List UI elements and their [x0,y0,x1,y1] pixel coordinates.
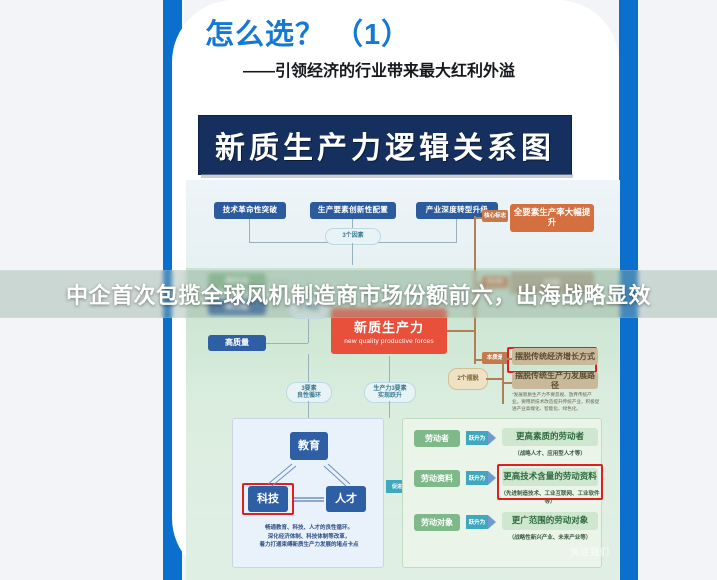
education-panel-note: 畅通教育、科技、人才的良性循环。 深化经济体制、科技体制等改革， 着力打通束缚新… [238,524,380,550]
page-root: 怎么选？ （1） ——引领经济的行业带来最大红利外溢 新质生产力逻辑关系图 技术… [0,0,717,580]
connector-cycle-down [308,401,309,418]
upgrade-arrow-1: 跃升为 [466,431,488,445]
element-to-3: 更广范围的劳动对象 [502,512,598,530]
triangle-node-talent: 人才 [326,486,366,512]
highlight-technology [242,483,294,515]
overlay-headline-text: 中企首次包揽全球风机制造商市场份额前六，出海战略显效 [66,278,651,310]
element-to-1: 更高素质的劳动者 [502,428,598,446]
triangle-node-education: 教育 [290,432,328,460]
factor-box-2: 生产要素创新性配置 [310,202,396,219]
node-2-escape: 2个摆脱 [448,368,488,390]
element-detail-3: （战略性新兴产业、未来产业等） [502,533,598,541]
tag-stub-1 [474,217,482,219]
page-subtitle: ——引领经济的行业带来最大红利外溢 [243,57,605,81]
upgrade-arrow-3: 跃升为 [466,515,488,529]
element-from-1: 劳动者 [414,430,460,447]
escape-stub [486,378,502,380]
diagram-banner: 新质生产力逻辑关系图 [198,115,572,175]
right-tag-1: 核心标志 [482,210,508,222]
core-node-en: new quality productive forces [344,338,434,345]
connector-feat-3 [266,343,308,344]
right-box-1: 全要素生产率大幅提升 [510,204,594,232]
node-3-factors: 3个因素 [325,228,381,245]
page-title: 怎么选？ （1） [205,18,605,52]
element-from-3: 劳动对象 [414,514,460,531]
upgrade-arrow-2: 跃升为 [466,471,488,485]
escape-note: "发展新质生产力不要忽视、放弃传统产业。要用新技术改造提升传统产业，积极促进产业… [512,392,600,413]
diagram-banner-label: 新质生产力逻辑关系图 [215,123,555,167]
banner-shadow [201,174,573,178]
connector-f1 [249,219,250,242]
connector-leap-down [389,401,390,418]
node-leap: 生产力3要素 实现跃升 [364,382,416,403]
highlight-labor-materials [497,464,603,500]
escape-stub-1 [504,358,512,360]
escape-box-1: 摆脱传统经济增长方式 [512,348,598,365]
core-node-cn: 新质生产力 [354,317,424,336]
element-detail-1: （战略人才、应用型人才等） [502,449,598,457]
overlay-headline-band: 中企首次包揽全球风机制造商市场份额前六，出海战略显效 [0,270,717,318]
node-cycle: 3要素 良性循环 [286,382,332,403]
connector-leap-up [389,356,390,382]
logic-diagram: 技术革命性突破 生产要素创新性配置 产业深度转型升级 3个因素 高科技 高效能 … [186,180,620,580]
core-to-spine [447,330,475,332]
connector-core-in [352,243,353,265]
slide-headline-group: 怎么选？ （1） ——引领经济的行业带来最大红利外溢 [205,18,605,81]
element-from-2: 劳动资料 [414,470,460,487]
factor-box-1: 技术革命性突破 [214,202,286,219]
connector-f3 [456,219,457,242]
connector-cycle-up [308,354,309,382]
watermark: 关注我们 [570,545,610,558]
tag-stub-3 [474,359,482,361]
feature-box-3: 高质量 [208,335,266,351]
escape-stub-2 [504,382,512,384]
escape-box-2: 摆脱传统生产力发展路径 [512,372,598,389]
